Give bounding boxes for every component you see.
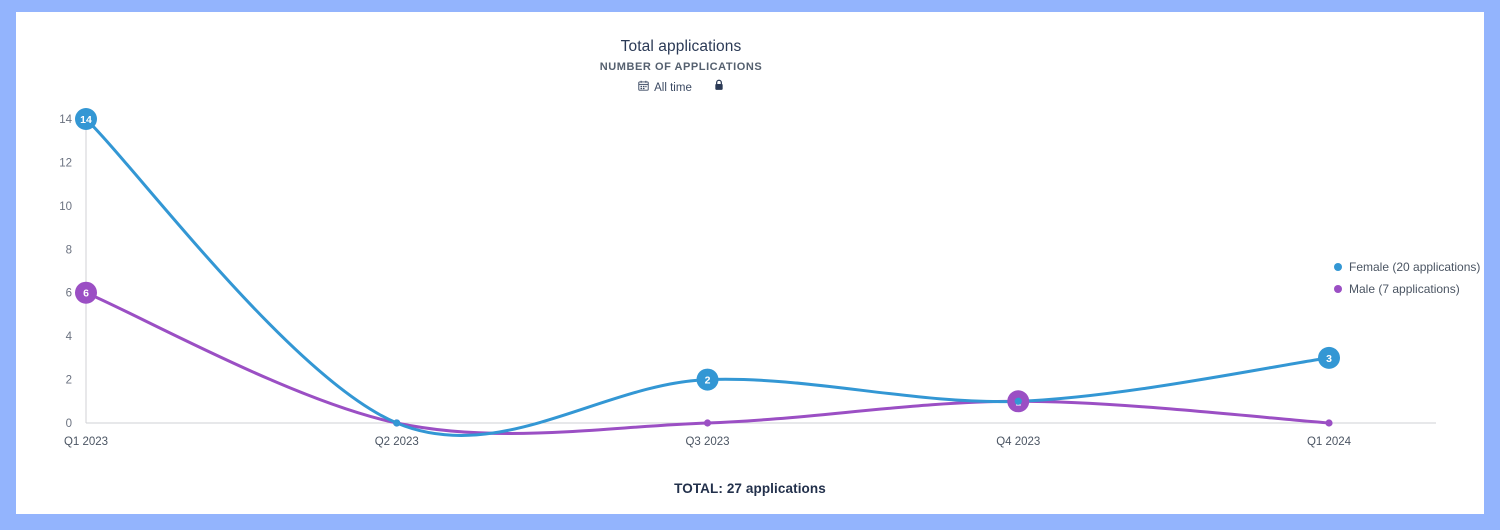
y-tick-label: 2 bbox=[66, 375, 72, 387]
data-point-dot[interactable] bbox=[1325, 419, 1332, 426]
x-tick-label: Q2 2023 bbox=[375, 436, 419, 448]
legend-item-label: Female (20 applications) bbox=[1349, 260, 1480, 274]
line-chart-svg: 02468101214 611423 Q1 2023Q2 2023Q3 2023… bbox=[16, 97, 1484, 457]
x-tick-label: Q3 2023 bbox=[685, 436, 729, 448]
y-tick-label: 14 bbox=[59, 114, 72, 126]
data-point-label: 3 bbox=[1326, 353, 1332, 365]
y-tick-label: 12 bbox=[59, 157, 72, 169]
legend-item-male[interactable]: Male (7 applications) bbox=[1334, 278, 1484, 300]
legend-item-female[interactable]: Female (20 applications) bbox=[1334, 256, 1484, 278]
data-point-dot[interactable] bbox=[704, 419, 711, 426]
page-title: Total applications bbox=[16, 36, 1346, 57]
data-point-label: 2 bbox=[705, 375, 711, 387]
data-point-dot[interactable] bbox=[393, 419, 400, 426]
series-line-male bbox=[86, 293, 1329, 434]
x-tick-label: Q1 2024 bbox=[1307, 436, 1352, 448]
chart-card: Total applications NUMBER OF APPLICATION… bbox=[16, 12, 1484, 514]
y-tick-label: 0 bbox=[66, 418, 72, 430]
data-point-dot[interactable] bbox=[1015, 398, 1022, 405]
y-axis-tick-labels: 02468101214 bbox=[59, 114, 72, 430]
data-point-label: 6 bbox=[83, 288, 89, 300]
calendar-icon bbox=[638, 80, 649, 96]
period-label[interactable]: All time bbox=[654, 80, 692, 96]
chart-axes bbox=[86, 119, 1436, 423]
data-point-label: 14 bbox=[80, 114, 92, 126]
chart-subtitle: NUMBER OF APPLICATIONS bbox=[16, 58, 1346, 76]
y-tick-label: 10 bbox=[59, 201, 72, 213]
y-tick-label: 8 bbox=[66, 244, 72, 256]
legend-color-dot bbox=[1334, 263, 1342, 271]
chart-meta-row: All time bbox=[16, 79, 1346, 96]
y-tick-label: 6 bbox=[66, 288, 72, 300]
x-tick-label: Q1 2023 bbox=[64, 436, 108, 448]
page-frame: Total applications NUMBER OF APPLICATION… bbox=[0, 0, 1500, 530]
legend-item-label: Male (7 applications) bbox=[1349, 282, 1460, 296]
legend-color-dot bbox=[1334, 285, 1342, 293]
chart-total-row: TOTAL: 27 applications bbox=[16, 480, 1484, 498]
chart-header: Total applications NUMBER OF APPLICATION… bbox=[16, 36, 1346, 96]
chart-plot-area: 02468101214 611423 Q1 2023Q2 2023Q3 2023… bbox=[16, 97, 1484, 457]
x-axis-tick-labels: Q1 2023Q2 2023Q3 2023Q4 2023Q1 2024 bbox=[64, 436, 1352, 448]
chart-data-points: 611423 bbox=[75, 108, 1340, 427]
x-tick-label: Q4 2023 bbox=[996, 436, 1040, 448]
total-applications-text: TOTAL: 27 applications bbox=[674, 481, 826, 496]
chart-legend: Female (20 applications) Male (7 applica… bbox=[1334, 256, 1484, 300]
y-tick-label: 4 bbox=[66, 331, 73, 343]
lock-icon[interactable] bbox=[714, 79, 724, 96]
